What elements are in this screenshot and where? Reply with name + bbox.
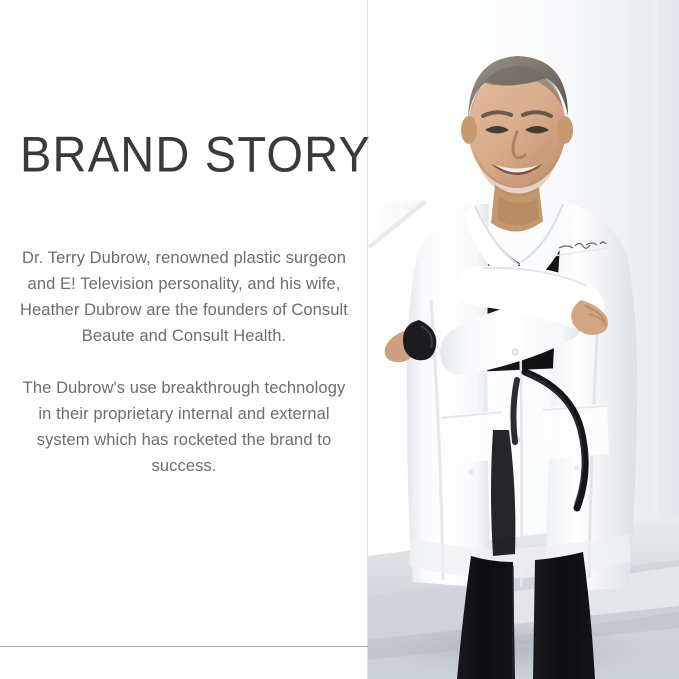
bottom-divider	[0, 646, 368, 647]
text-column: BRAND STORY Dr. Terry Dubrow, renowned p…	[0, 0, 368, 679]
brand-story-page: BRAND STORY Dr. Terry Dubrow, renowned p…	[0, 0, 679, 679]
body-copy: Dr. Terry Dubrow, renowned plastic surge…	[14, 245, 354, 479]
photo-left-seam	[367, 0, 368, 679]
paragraph-2: The Dubrow's use breakthrough technology…	[14, 375, 354, 479]
paragraph-1: Dr. Terry Dubrow, renowned plastic surge…	[14, 245, 354, 349]
page-title: BRAND STORY	[20, 129, 371, 179]
doctor-photo	[367, 0, 679, 679]
